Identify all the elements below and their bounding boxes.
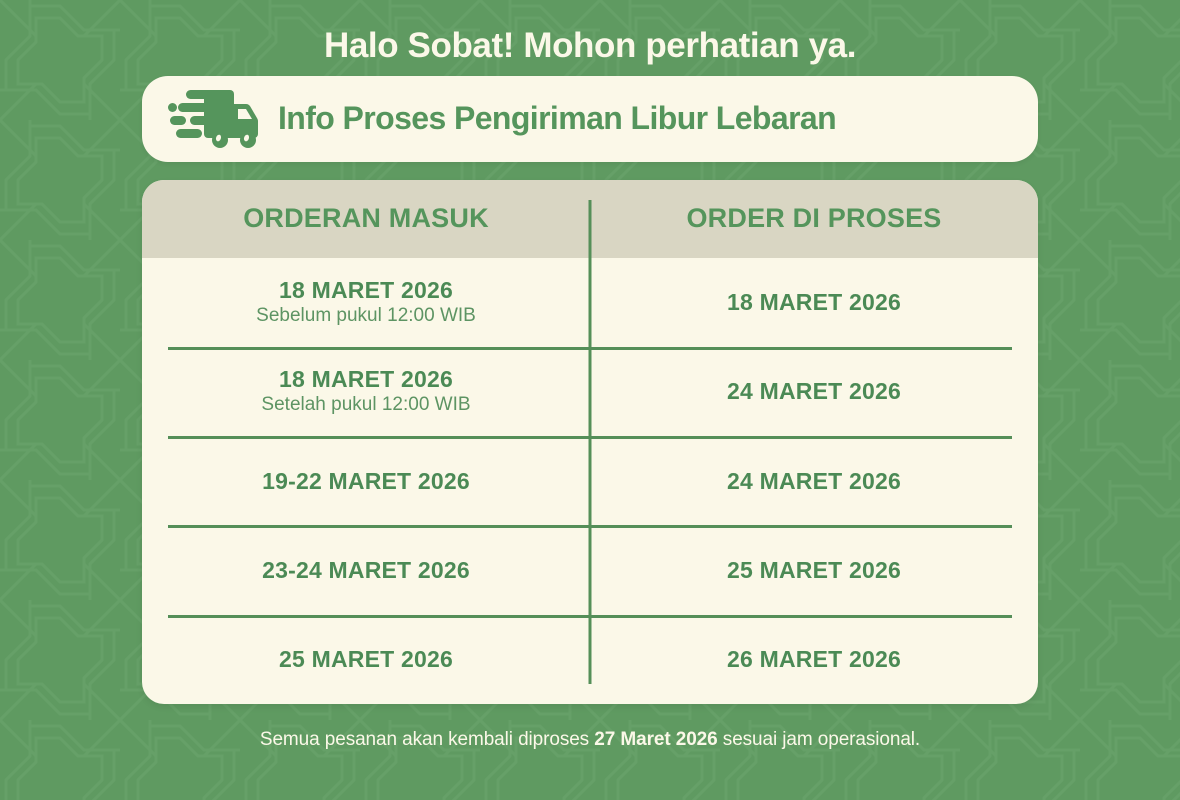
cell-orderan-masuk: 18 MARET 2026 Sebelum pukul 12:00 WIB: [142, 277, 590, 328]
cell-date: 18 MARET 2026: [160, 366, 572, 392]
cell-date: 23-24 MARET 2026: [160, 557, 572, 583]
cell-orderan-masuk: 18 MARET 2026 Setelah pukul 12:00 WIB: [142, 366, 590, 417]
cell-time-note: Sebelum pukul 12:00 WIB: [160, 304, 572, 328]
delivery-truck-icon: [168, 88, 264, 150]
footer-note-suffix: sesuai jam operasional.: [718, 729, 921, 750]
footer-note-date: 27 Maret 2026: [594, 729, 717, 750]
promo-poster: Halo Sobat! Mohon perhatian ya.: [0, 0, 1180, 800]
banner-title: Info Proses Pengiriman Libur Lebaran: [278, 100, 836, 137]
cell-order-di-proses: 26 MARET 2026: [590, 646, 1038, 672]
info-banner: Info Proses Pengiriman Libur Lebaran: [142, 76, 1038, 162]
cell-time-note: Setelah pukul 12:00 WIB: [160, 393, 572, 417]
cell-order-di-proses: 24 MARET 2026: [590, 378, 1038, 404]
cell-order-di-proses: 25 MARET 2026: [590, 557, 1038, 583]
column-divider: [589, 200, 592, 684]
column-header-order-di-proses: ORDER DI PROSES: [590, 203, 1038, 234]
cell-date: 18 MARET 2026: [608, 289, 1020, 315]
cell-order-di-proses: 24 MARET 2026: [590, 468, 1038, 494]
page-title: Halo Sobat! Mohon perhatian ya.: [324, 28, 856, 65]
cell-date: 18 MARET 2026: [160, 277, 572, 303]
cell-orderan-masuk: 25 MARET 2026: [142, 646, 590, 672]
cell-date: 19-22 MARET 2026: [160, 468, 572, 494]
column-header-orderan-masuk: ORDERAN MASUK: [142, 203, 590, 234]
cell-date: 25 MARET 2026: [160, 646, 572, 672]
cell-date: 24 MARET 2026: [608, 468, 1020, 494]
cell-date: 26 MARET 2026: [608, 646, 1020, 672]
footer-note-prefix: Semua pesanan akan kembali diproses: [260, 729, 594, 750]
cell-order-di-proses: 18 MARET 2026: [590, 289, 1038, 315]
cell-date: 25 MARET 2026: [608, 557, 1020, 583]
schedule-table: ORDERAN MASUK ORDER DI PROSES 18 MARET 2…: [142, 180, 1038, 704]
cell-orderan-masuk: 23-24 MARET 2026: [142, 557, 590, 583]
cell-date: 24 MARET 2026: [608, 378, 1020, 404]
cell-orderan-masuk: 19-22 MARET 2026: [142, 468, 590, 494]
footer-note: Semua pesanan akan kembali diproses 27 M…: [260, 729, 920, 751]
